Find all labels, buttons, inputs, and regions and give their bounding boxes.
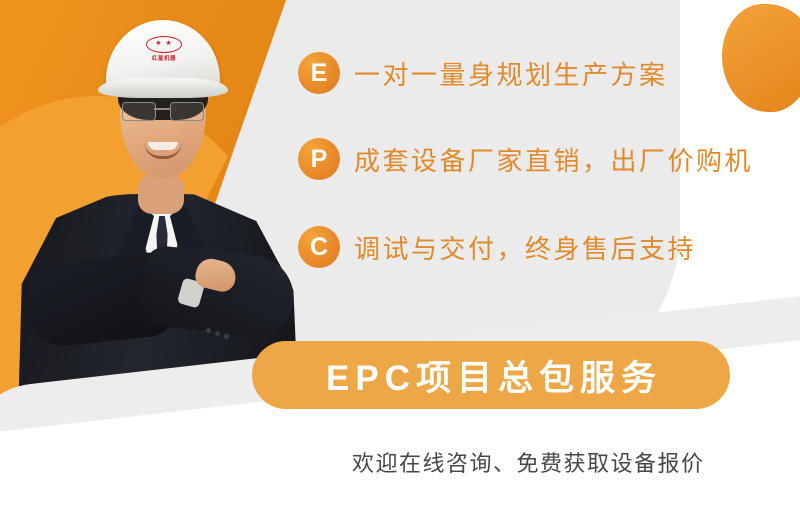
safety-helmet-brim bbox=[98, 78, 228, 98]
feature-badge-c: C bbox=[298, 226, 340, 268]
feature-item-e: E 一对一量身规划生产方案 bbox=[298, 52, 668, 94]
eyeglasses-icon bbox=[120, 102, 206, 120]
feature-item-c: C 调试与交付，终身售后支持 bbox=[298, 226, 696, 268]
lens-right bbox=[170, 102, 204, 121]
feature-badge-e: E bbox=[298, 52, 340, 94]
helmet-logo: ★ ★ 红星机器 bbox=[144, 36, 184, 64]
cta-button[interactable]: EPC项目总包服务 bbox=[252, 341, 730, 409]
content-column: E 一对一量身规划生产方案 P 成套设备厂家直销，出厂价购机 C 调试与交付，终… bbox=[290, 0, 800, 506]
promo-banner: ★ ★ 红星机器 E 一对一量身规划生产方案 P 成套设备厂家直销，出厂价购机 … bbox=[0, 0, 800, 506]
jacket-button bbox=[224, 334, 229, 339]
helmet-logo-mark: ★ ★ bbox=[146, 36, 182, 53]
neck bbox=[138, 174, 184, 214]
helmet-logo-text: 红星机器 bbox=[144, 54, 184, 62]
feature-text-e: 一对一量身规划生产方案 bbox=[354, 55, 668, 92]
jacket-button bbox=[215, 331, 220, 336]
jacket-button bbox=[206, 328, 211, 333]
feature-item-p: P 成套设备厂家直销，出厂价购机 bbox=[298, 138, 753, 180]
footnote-text: 欢迎在线咨询、免费获取设备报价 bbox=[352, 446, 705, 478]
feature-text-c: 调试与交付，终身售后支持 bbox=[354, 229, 696, 266]
feature-text-p: 成套设备厂家直销，出厂价购机 bbox=[354, 141, 753, 178]
feature-badge-p: P bbox=[298, 138, 340, 180]
cta-button-label: EPC项目总包服务 bbox=[320, 350, 662, 401]
glasses-bridge bbox=[154, 108, 170, 110]
lens-left bbox=[122, 102, 156, 121]
